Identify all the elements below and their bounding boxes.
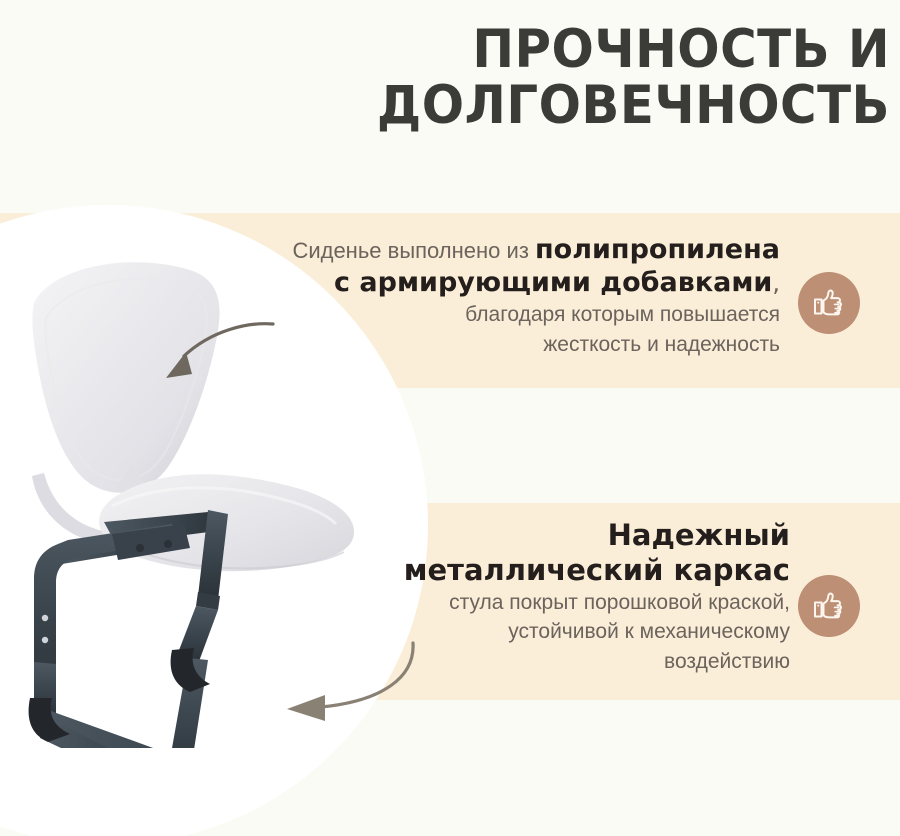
thumbs-up-badge-seat: [798, 272, 860, 334]
feature-1-strong-2: с армирующими добавками: [334, 267, 772, 298]
feature-1-line-3: благодаря которым повышается: [180, 300, 780, 330]
feature-1-line-1: Сиденье выполнено из полипропилена: [180, 232, 780, 267]
feature-2-line-5: воздействию: [300, 647, 790, 677]
thumbs-up-icon: [812, 589, 846, 623]
feature-1-lead: Сиденье выполнено из: [292, 238, 535, 263]
page-title-line-1: ПРОЧНОСТЬ И: [364, 22, 890, 78]
poster-canvas: ПРОЧНОСТЬ И ДОЛГОВЕЧНОСТЬ Сиденье выполн…: [0, 0, 900, 836]
feature-1-comma: ,: [772, 269, 780, 297]
feature-text-metal-frame: Надежный металлический каркас стула покр…: [300, 518, 790, 677]
feature-2-line-3: стула покрыт порошковой краской,: [300, 588, 790, 618]
feature-1-line-4: жесткость и надежность: [180, 330, 780, 360]
page-title-line-2: ДОЛГОВЕЧНОСТЬ: [364, 78, 890, 134]
feature-1-line-2: с армирующими добавками,: [180, 267, 780, 300]
feature-2-line-2: металлический каркас: [300, 553, 790, 588]
feature-text-seat-material: Сиденье выполнено из полипропилена с арм…: [180, 232, 780, 360]
page-title: ПРОЧНОСТЬ И ДОЛГОВЕЧНОСТЬ: [364, 22, 890, 134]
thumbs-up-badge-frame: [798, 575, 860, 637]
feature-1-strong-1: полипропилена: [535, 234, 780, 265]
feature-2-line-1: Надежный: [300, 518, 790, 553]
thumbs-up-icon: [812, 286, 846, 320]
feature-2-line-4: устойчивой к механическому: [300, 617, 790, 647]
